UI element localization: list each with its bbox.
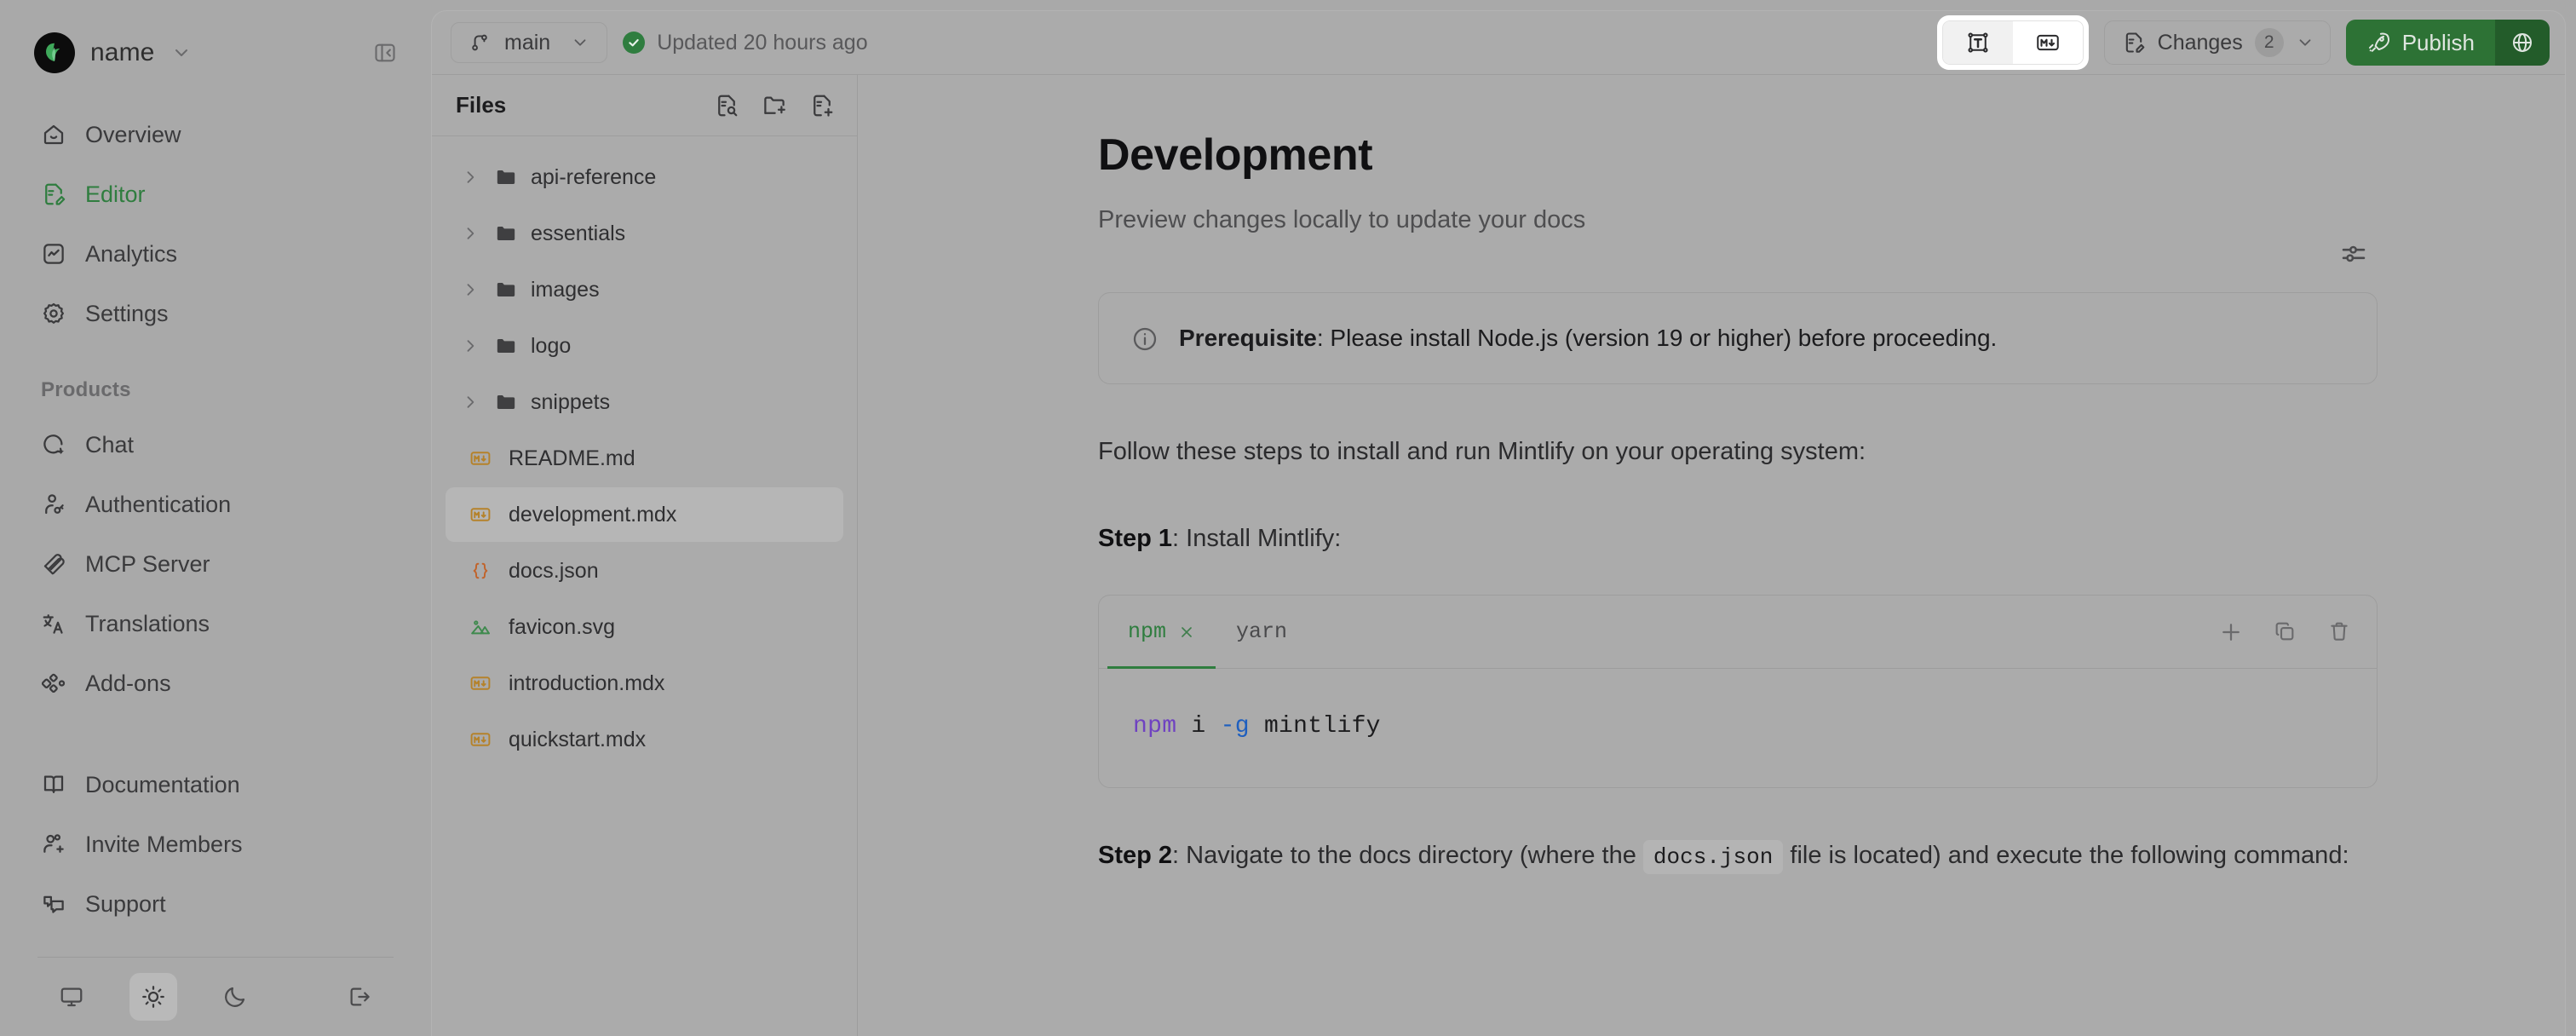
code-block-actions xyxy=(2218,619,2353,645)
page-title: Development xyxy=(1098,129,2378,181)
branch-name: main xyxy=(504,31,550,55)
changes-button[interactable]: Changes 2 xyxy=(2104,20,2331,65)
callout-text: Prerequisite: Please install Node.js (ve… xyxy=(1179,322,1997,354)
code-block-tabs: npm yarn xyxy=(1099,596,2377,669)
user-plus-icon xyxy=(41,832,66,857)
sidebar-spacer xyxy=(29,712,402,756)
sidebar-item-documentation[interactable]: Documentation xyxy=(29,756,402,814)
sidebar-item-label: MCP Server xyxy=(85,551,210,578)
mcp-stack-icon xyxy=(41,551,66,577)
tree-row-label: docs.json xyxy=(509,559,599,584)
primary-nav: Overview Editor Analytics Settings xyxy=(29,106,402,342)
files-panel-actions xyxy=(714,93,835,118)
sidebar-item-label: Documentation xyxy=(85,772,240,798)
app-root: name Overview Editor xyxy=(0,0,2576,1036)
close-icon[interactable] xyxy=(1178,624,1195,641)
tree-row-label: images xyxy=(531,278,600,302)
tree-row[interactable]: development.mdx xyxy=(446,487,843,542)
chevron-down-icon[interactable] xyxy=(171,43,192,63)
folder-icon xyxy=(493,222,519,245)
code-tab-yarn[interactable]: yarn xyxy=(1216,596,1308,669)
prerequisite-callout: Prerequisite: Please install Node.js (ve… xyxy=(1098,292,2378,384)
code-block: npm yarn xyxy=(1098,595,2378,788)
changes-label: Changes xyxy=(2158,31,2243,55)
moon-icon[interactable] xyxy=(211,973,259,1021)
info-circle-icon xyxy=(1131,325,1159,353)
tree-row-label: api-reference xyxy=(531,165,656,190)
brand-name: name xyxy=(90,38,154,67)
secondary-nav: Documentation Invite Members Support xyxy=(29,756,402,933)
tree-row[interactable]: logo xyxy=(446,319,843,373)
publish-group: Publish xyxy=(2346,20,2550,66)
chat-bubbles-icon xyxy=(41,891,66,917)
visual-editor-icon[interactable] xyxy=(1943,21,2013,64)
chevron-right-icon[interactable] xyxy=(459,225,481,242)
file-plus-icon[interactable] xyxy=(809,93,835,118)
sidebar-item-label: Authentication xyxy=(85,492,231,518)
files-panel-header: Files xyxy=(432,75,857,136)
intro-paragraph: Follow these steps to install and run Mi… xyxy=(1098,434,2378,471)
files-panel-title: Files xyxy=(456,92,506,118)
sidebar-item-mcp-server[interactable]: MCP Server xyxy=(29,535,402,593)
tree-row-label: quickstart.mdx xyxy=(509,728,646,752)
lock-person-icon xyxy=(41,492,66,517)
step-2-part1: : Navigate to the docs directory (where … xyxy=(1172,842,1643,869)
sidebar-item-label: Add-ons xyxy=(85,671,171,697)
rocket-icon xyxy=(2366,31,2390,55)
globe-icon[interactable] xyxy=(2495,20,2550,66)
file-search-icon[interactable] xyxy=(714,93,739,118)
tree-row-label: favicon.svg xyxy=(509,615,615,640)
code-tab-label: npm xyxy=(1128,619,1166,644)
home-icon xyxy=(41,122,66,147)
markdown-icon[interactable] xyxy=(2013,21,2083,64)
branch-icon xyxy=(469,32,491,54)
tree-row[interactable]: snippets xyxy=(446,375,843,429)
tree-row[interactable]: README.md xyxy=(446,431,843,486)
markdown-file-icon xyxy=(468,728,493,751)
changes-count-badge: 2 xyxy=(2255,28,2284,57)
markdown-file-icon xyxy=(468,447,493,469)
publish-label: Publish xyxy=(2402,30,2475,56)
chevron-right-icon[interactable] xyxy=(459,281,481,298)
sidebar: name Overview Editor xyxy=(0,0,431,1036)
file-pencil-icon xyxy=(2122,31,2146,55)
step-2-part2: file is located) and execute the followi… xyxy=(1783,842,2349,869)
tree-row-label: introduction.mdx xyxy=(509,671,664,696)
step-1-paragraph: Step 1: Install Mintlify: xyxy=(1098,521,2378,558)
gear-icon xyxy=(41,301,66,326)
chevron-right-icon[interactable] xyxy=(459,394,481,411)
tree-row[interactable]: essentials xyxy=(446,206,843,261)
code-token: mintlify xyxy=(1250,713,1381,740)
tree-row[interactable]: docs.json xyxy=(446,544,843,598)
panel-collapse-icon[interactable] xyxy=(368,36,402,70)
theme-switcher xyxy=(29,958,402,1036)
step-1-rest: : Install Mintlify: xyxy=(1172,525,1341,552)
document-inner: Development Preview changes locally to u… xyxy=(858,75,2565,875)
tree-row[interactable]: api-reference xyxy=(446,150,843,204)
code-tab-npm[interactable]: npm xyxy=(1107,596,1216,669)
top-toolbar: main Updated 20 hours ago xyxy=(432,11,2565,74)
main-window: main Updated 20 hours ago xyxy=(431,10,2566,1036)
folder-icon xyxy=(493,166,519,188)
tree-row-label: essentials xyxy=(531,222,625,246)
chevron-right-icon[interactable] xyxy=(459,337,481,354)
code-token: npm xyxy=(1133,713,1176,740)
copy-icon[interactable] xyxy=(2273,619,2298,645)
update-status: Updated 20 hours ago xyxy=(623,31,867,55)
chevron-down-icon[interactable] xyxy=(2296,33,2314,52)
code-block-content[interactable]: npm i -g mintlify xyxy=(1099,669,2377,787)
sidebar-item-settings[interactable]: Settings xyxy=(29,285,402,342)
products-nav: Chat Authentication MCP Server Translati… xyxy=(29,416,402,712)
code-tab-label: yarn xyxy=(1236,619,1287,644)
document-content: Development Preview changes locally to u… xyxy=(858,74,2565,1036)
sidebar-item-invite-members[interactable]: Invite Members xyxy=(29,815,402,873)
tree-row[interactable]: quickstart.mdx xyxy=(446,712,843,767)
folder-icon xyxy=(493,279,519,301)
tree-row-label: logo xyxy=(531,334,571,359)
file-pencil-icon xyxy=(41,181,66,207)
sidebar-item-analytics[interactable]: Analytics xyxy=(29,225,402,283)
trash-icon[interactable] xyxy=(2327,619,2353,645)
mint-leaf-logo xyxy=(34,32,75,73)
sidebar-item-editor[interactable]: Editor xyxy=(29,165,402,223)
brand-row[interactable]: name xyxy=(29,0,402,106)
chevron-right-icon[interactable] xyxy=(459,169,481,186)
page-subtitle: Preview changes locally to update your d… xyxy=(1098,206,2378,234)
markdown-file-icon xyxy=(468,504,493,526)
editor-mode-toggle xyxy=(1942,20,2084,65)
tree-row[interactable]: introduction.mdx xyxy=(446,656,843,711)
image-file-icon xyxy=(468,616,493,638)
sidebar-item-label: Chat xyxy=(85,432,134,458)
markdown-file-icon xyxy=(468,672,493,694)
sidebar-item-label: Translations xyxy=(85,611,210,637)
sidebar-item-support[interactable]: Support xyxy=(29,875,402,933)
tree-row[interactable]: images xyxy=(446,262,843,317)
chat-sparkle-icon xyxy=(41,432,66,458)
tree-row-label: README.md xyxy=(509,446,635,471)
translate-icon xyxy=(41,611,66,636)
check-circle-icon xyxy=(623,32,645,54)
json-file-icon xyxy=(468,560,493,582)
sidebar-item-add-ons[interactable]: Add-ons xyxy=(29,654,402,712)
toolbar-right-group: Changes 2 Publish xyxy=(1937,15,2550,70)
callout-bold: Prerequisite xyxy=(1179,325,1317,351)
editor-mode-toggle-highlight xyxy=(1937,15,2089,70)
folder-plus-icon[interactable] xyxy=(762,93,787,118)
logout-icon[interactable] xyxy=(336,973,383,1021)
callout-rest: : Please install Node.js (version 19 or … xyxy=(1317,325,1997,351)
sidebar-item-label: Analytics xyxy=(85,241,177,268)
products-section-title: Products xyxy=(29,378,402,402)
code-token: i xyxy=(1176,713,1220,740)
publish-button[interactable]: Publish xyxy=(2346,20,2495,66)
sidebar-item-label: Support xyxy=(85,891,166,918)
sidebar-item-label: Editor xyxy=(85,181,146,208)
inline-code-docs-json: docs.json xyxy=(1643,840,1783,874)
step-2-paragraph: Step 2: Navigate to the docs directory (… xyxy=(1098,837,2378,875)
book-icon xyxy=(41,772,66,797)
tree-row-label: snippets xyxy=(531,390,610,415)
files-panel: Files xyxy=(432,74,858,1036)
sidebar-item-label: Settings xyxy=(85,301,169,327)
step-1-bold: Step 1 xyxy=(1098,525,1172,552)
folder-icon xyxy=(493,335,519,357)
sidebar-item-translations[interactable]: Translations xyxy=(29,595,402,653)
sidebar-item-label: Overview xyxy=(85,122,181,148)
sidebar-item-overview[interactable]: Overview xyxy=(29,106,402,164)
sidebar-item-chat[interactable]: Chat xyxy=(29,416,402,474)
update-status-text: Updated 20 hours ago xyxy=(657,31,867,55)
tree-row-label: development.mdx xyxy=(509,503,676,527)
editor-body: Files xyxy=(432,74,2565,1036)
monitor-icon[interactable] xyxy=(48,973,95,1021)
branch-selector[interactable]: main xyxy=(451,22,607,63)
sidebar-item-authentication[interactable]: Authentication xyxy=(29,475,402,533)
sidebar-item-label: Invite Members xyxy=(85,832,243,858)
sun-icon[interactable] xyxy=(129,973,177,1021)
sliders-icon[interactable] xyxy=(2337,237,2371,271)
plus-icon[interactable] xyxy=(2218,619,2244,645)
folder-icon xyxy=(493,391,519,413)
code-token: -g xyxy=(1221,713,1250,740)
addons-diamond-icon xyxy=(41,671,66,696)
chevron-down-icon[interactable] xyxy=(571,33,589,52)
tree-row[interactable]: favicon.svg xyxy=(446,600,843,654)
file-tree: api-reference essentials images xyxy=(432,136,857,767)
step-2-bold: Step 2 xyxy=(1098,842,1172,869)
chart-square-icon xyxy=(41,241,66,267)
